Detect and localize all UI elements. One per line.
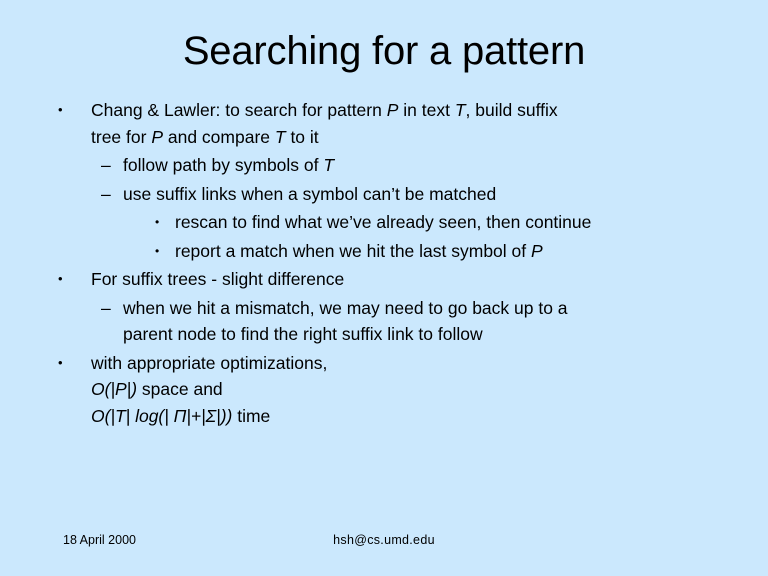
footer-email: hsh@cs.umd.edu [0, 529, 768, 551]
bullet-level1-suffix-trees: • For suffix trees - slight difference [58, 266, 718, 293]
variable-t: T [275, 127, 286, 147]
formula-expression: O(|T| log(| Π|+|Σ|)) [91, 406, 232, 426]
bullet-marker-level2: – [101, 181, 123, 208]
bullet-level3-report-match: • report a match when we hit the last sy… [155, 238, 718, 265]
bullet-text: when we hit a mismatch, we may need to g… [123, 295, 718, 348]
bullet-level2-mismatch: – when we hit a mismatch, we may need to… [101, 295, 718, 348]
bullet-text-part: Chang & Lawler: to search for pattern [91, 100, 387, 120]
bullet-text: For suffix trees - slight difference [91, 266, 718, 293]
bullet-text-line: when we hit a mismatch, we may need to g… [123, 298, 568, 318]
bullet-level2-suffix-links: – use suffix links when a symbol can’t b… [101, 181, 718, 208]
bullet-level2-follow-path: – follow path by symbols of T [101, 152, 718, 179]
bullet-text-part: to it [286, 127, 319, 147]
bullet-text: rescan to find what we’ve already seen, … [175, 209, 718, 236]
bullet-text-part: tree for [91, 127, 151, 147]
bullet-text-part: follow path by symbols of [123, 155, 323, 175]
slide-footer: 18 April 2000 hsh@cs.umd.edu [0, 529, 768, 551]
bullet-text-part: , build suffix [466, 100, 558, 120]
formula-space-complexity: O(|P|) space and [91, 376, 718, 403]
slide: Searching for a pattern • Chang & Lawler… [0, 0, 768, 576]
variable-p: P [151, 127, 163, 147]
bullet-text-part: in text [398, 100, 454, 120]
variable-p: P [531, 241, 543, 261]
bullet-text-part: report a match when we hit the last symb… [175, 241, 531, 261]
bullet-level1-chang-lawler: • Chang & Lawler: to search for pattern … [58, 97, 718, 150]
formula-label: time [232, 406, 270, 426]
bullet-marker-level1: • [58, 97, 91, 124]
bullet-marker-level3: • [155, 209, 175, 236]
variable-p: P [387, 100, 399, 120]
page-title: Searching for a pattern [0, 27, 768, 75]
bullet-marker-level1: • [58, 350, 91, 377]
bullet-text: use suffix links when a symbol can’t be … [123, 181, 718, 208]
bullet-text-line: parent node to find the right suffix lin… [123, 324, 483, 344]
bullet-text: report a match when we hit the last symb… [175, 238, 718, 265]
bullet-marker-level3: • [155, 238, 175, 265]
variable-t: T [455, 100, 466, 120]
bullet-text: with appropriate optimizations, [91, 350, 718, 377]
bullet-text-part: and compare [163, 127, 275, 147]
bullet-marker-level1: • [58, 266, 91, 293]
formula-expression: O(|P|) [91, 379, 137, 399]
bullet-marker-level2: – [101, 295, 123, 322]
bullet-marker-level2: – [101, 152, 123, 179]
bullet-text: Chang & Lawler: to search for pattern P … [91, 97, 718, 150]
slide-body: • Chang & Lawler: to search for pattern … [58, 97, 718, 430]
bullet-text: follow path by symbols of T [123, 152, 718, 179]
variable-t: T [323, 155, 334, 175]
bullet-level1-optimizations: • with appropriate optimizations, [58, 350, 718, 377]
formula-time-complexity: O(|T| log(| Π|+|Σ|)) time [91, 403, 718, 430]
formula-label: space and [137, 379, 223, 399]
bullet-level3-rescan: • rescan to find what we’ve already seen… [155, 209, 718, 236]
